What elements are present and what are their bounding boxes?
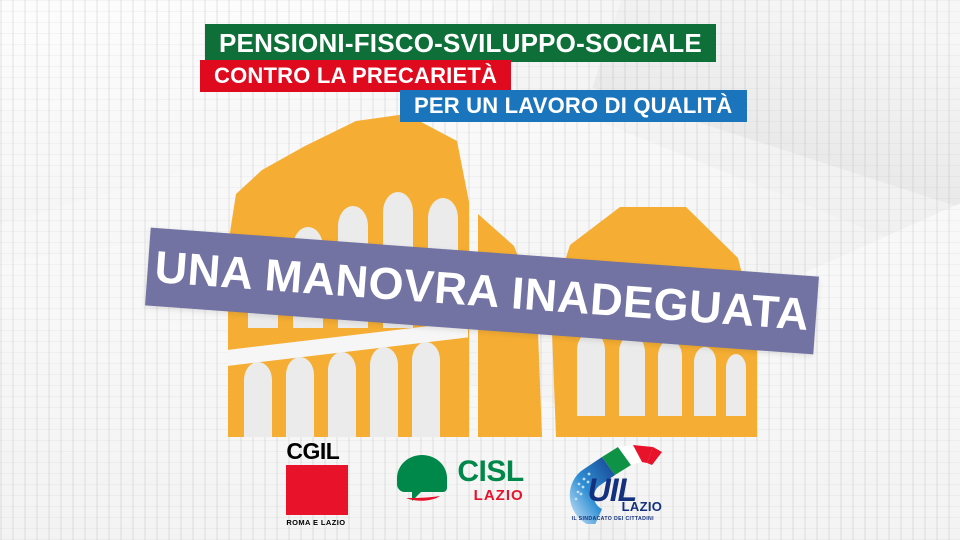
campaign-poster: PENSIONI-FISCO-SVILUPPO-SOCIALE CONTRO L…: [0, 0, 960, 540]
headline-bar-pensioni: PENSIONI-FISCO-SVILUPPO-SOCIALE: [205, 24, 716, 62]
cgil-wordmark: CGIL: [286, 440, 358, 463]
headline-bar-qualita: PER UN LAVORO DI QUALITÀ: [400, 90, 747, 122]
union-logo-row: CGIL ROMA E LAZIO CISL LAZIO: [0, 440, 960, 532]
cisl-wordmark: CISL: [457, 457, 523, 487]
headline-line-1: PENSIONI-FISCO-SVILUPPO-SOCIALE: [219, 28, 702, 59]
uil-tagline: IL SINDACATO DEI CITTADINI: [572, 516, 654, 522]
uil-logo: UIL LAZIO IL SINDACATO DEI CITTADINI: [560, 444, 680, 524]
headline-line-2: CONTRO LA PRECARIETÀ: [214, 63, 497, 89]
cisl-wordmark-group: CISL LAZIO: [457, 457, 523, 503]
headline-line-3: PER UN LAVORO DI QUALITÀ: [414, 93, 733, 119]
cisl-subtitle: LAZIO: [457, 488, 523, 503]
cisl-leaf-icon: [394, 452, 450, 508]
uil-subtitle: LAZIO: [622, 499, 663, 514]
cgil-subtitle: ROMA E LAZIO: [286, 518, 358, 527]
cisl-logo: CISL LAZIO: [394, 452, 523, 508]
cgil-red-square-icon: [286, 465, 348, 515]
headline-bar-precarieta: CONTRO LA PRECARIETÀ: [200, 60, 511, 92]
cgil-logo: CGIL ROMA E LAZIO: [280, 440, 358, 527]
